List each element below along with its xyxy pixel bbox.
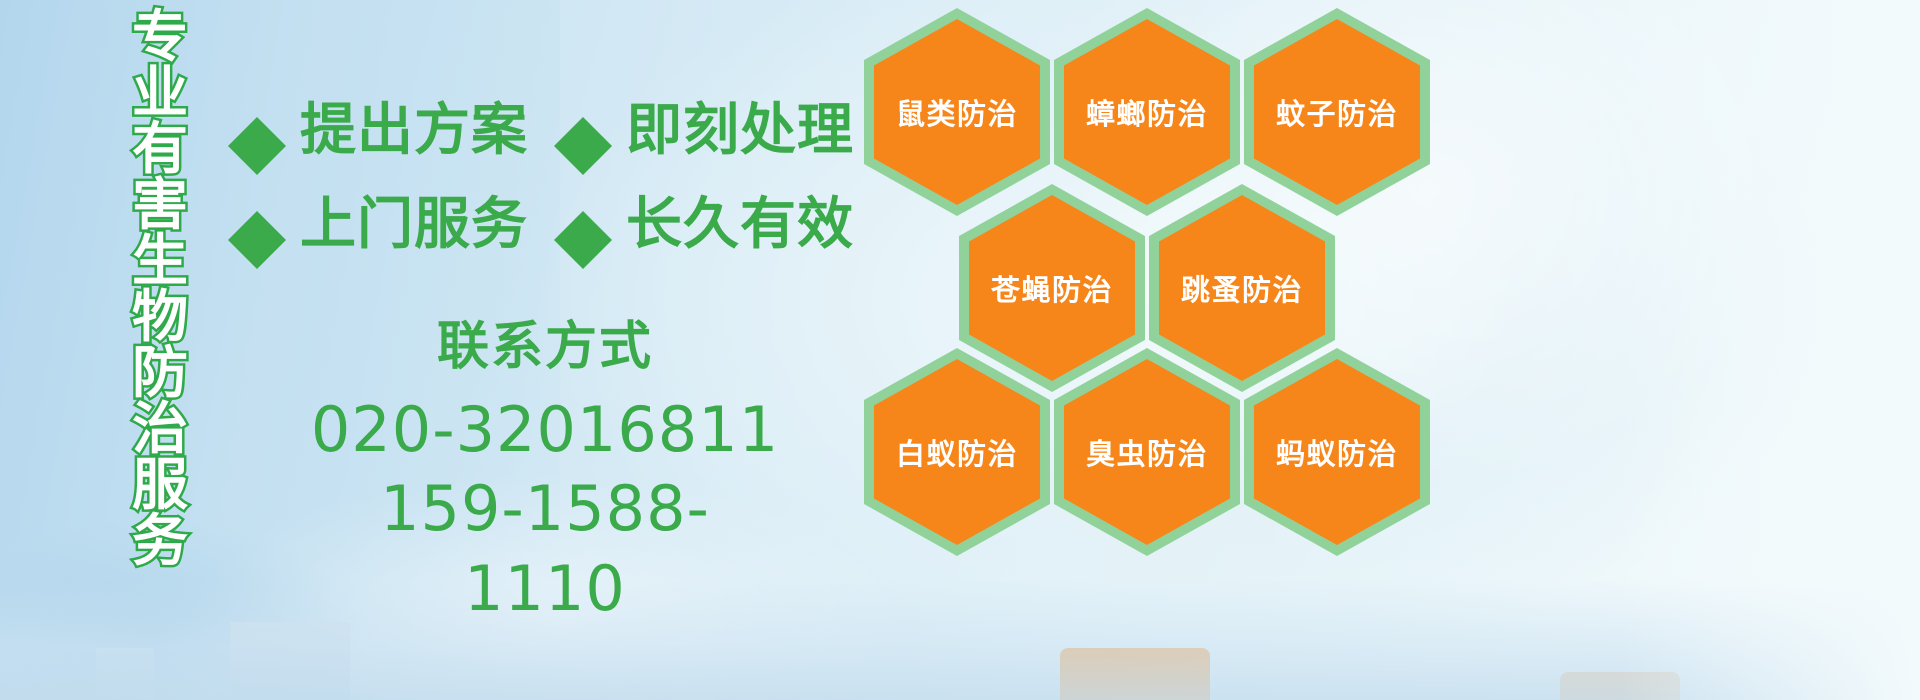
feature-item: 即刻处理 xyxy=(554,102,854,160)
service-hexagon-label: 白蚁防治 xyxy=(896,431,1018,473)
service-hexagon-grid: 鼠类防治 蟑螂防治 蚊子防治 苍蝇防治 跳蚤防治 白蚁防治 xyxy=(864,0,1444,560)
feature-row: 提出方案 即刻处理 xyxy=(228,84,868,178)
service-hexagon-label: 蚊子防治 xyxy=(1276,91,1398,133)
background-right-fade xyxy=(1620,0,1920,700)
feature-row: 上门服务 长久有效 xyxy=(228,178,868,272)
feature-label: 即刻处理 xyxy=(626,103,854,159)
promo-banner: 专 业 有 害 生 物 防 治 服 务 提出方案 即刻处理 上门服务 xyxy=(0,0,1920,700)
feature-label: 长久有效 xyxy=(626,197,854,253)
service-hexagon-label: 蚂蚁防治 xyxy=(1276,431,1398,473)
feature-item: 长久有效 xyxy=(554,196,854,254)
vertical-headline-char: 务 xyxy=(132,514,188,570)
service-hexagon-label: 鼠类防治 xyxy=(896,91,1018,133)
feature-list: 提出方案 即刻处理 上门服务 长久有效 xyxy=(228,84,868,272)
service-hexagon-label: 跳蚤防治 xyxy=(1181,267,1303,309)
vertical-headline-char: 有 xyxy=(132,122,188,178)
diamond-bullet-icon xyxy=(554,88,612,146)
service-hexagon-termite[interactable]: 白蚁防治 xyxy=(864,348,1050,556)
service-hexagon-bedbug[interactable]: 臭虫防治 xyxy=(1054,348,1240,556)
vertical-headline-char: 治 xyxy=(132,402,188,458)
contact-phone-mobile[interactable]: 159-1588-1110 xyxy=(300,469,790,628)
contact-title: 联系方式 xyxy=(300,318,790,378)
vertical-headline: 专 业 有 害 生 物 防 治 服 务 xyxy=(108,10,212,558)
vertical-headline-char: 害 xyxy=(132,178,188,234)
contact-phone-landline[interactable]: 020-32016811 xyxy=(300,390,790,469)
contact-block: 联系方式 020-32016811 159-1588-1110 xyxy=(300,318,790,628)
service-hexagon-label: 苍蝇防治 xyxy=(991,267,1113,309)
feature-item: 上门服务 xyxy=(228,196,528,254)
feature-label: 提出方案 xyxy=(300,103,528,159)
vertical-headline-char: 业 xyxy=(132,66,188,122)
vertical-headline-char: 服 xyxy=(132,458,188,514)
feature-label: 上门服务 xyxy=(300,197,528,253)
diamond-bullet-icon xyxy=(228,88,286,146)
vertical-headline-char: 物 xyxy=(132,290,188,346)
vertical-headline-char: 防 xyxy=(132,346,188,402)
service-hexagon-ant[interactable]: 蚂蚁防治 xyxy=(1244,348,1430,556)
service-hexagon-label: 臭虫防治 xyxy=(1086,431,1208,473)
feature-item: 提出方案 xyxy=(228,102,528,160)
diamond-bullet-icon xyxy=(228,182,286,240)
vertical-headline-char: 生 xyxy=(132,234,188,290)
vertical-headline-char: 专 xyxy=(132,10,188,66)
diamond-bullet-icon xyxy=(554,182,612,240)
service-hexagon-label: 蟑螂防治 xyxy=(1086,91,1208,133)
